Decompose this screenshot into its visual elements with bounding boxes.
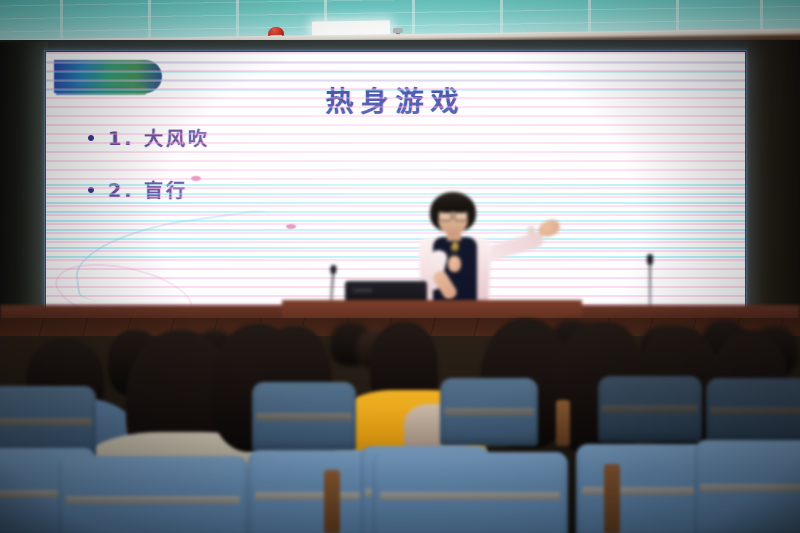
desk-microphone-right-icon	[649, 263, 651, 311]
seat-armrest	[324, 470, 340, 533]
back-wall-left	[0, 42, 48, 342]
light-panel-fixture	[312, 20, 390, 35]
audience-seat	[252, 382, 356, 452]
audience-seat	[372, 452, 568, 533]
glasses-icon	[438, 212, 468, 219]
audience-seat	[58, 456, 248, 533]
audience-seat	[706, 378, 800, 444]
ceiling	[0, 0, 800, 44]
ceiling-rib	[60, 0, 63, 44]
audience-seat	[694, 440, 800, 533]
seat-armrest	[556, 400, 570, 446]
audience-seat	[440, 378, 538, 446]
back-wall-right	[744, 40, 800, 340]
presenter-left-hand	[448, 256, 461, 272]
seat-armrest	[604, 464, 620, 533]
laptop-brand-label: Lenovo	[353, 288, 372, 294]
projection-screen-frame	[44, 50, 747, 320]
presenter-fringe	[434, 198, 474, 212]
audience-seat	[598, 376, 702, 442]
lecture-hall-scene: 热身游戏 1. 大风吹 2. 盲行	[0, 0, 800, 533]
